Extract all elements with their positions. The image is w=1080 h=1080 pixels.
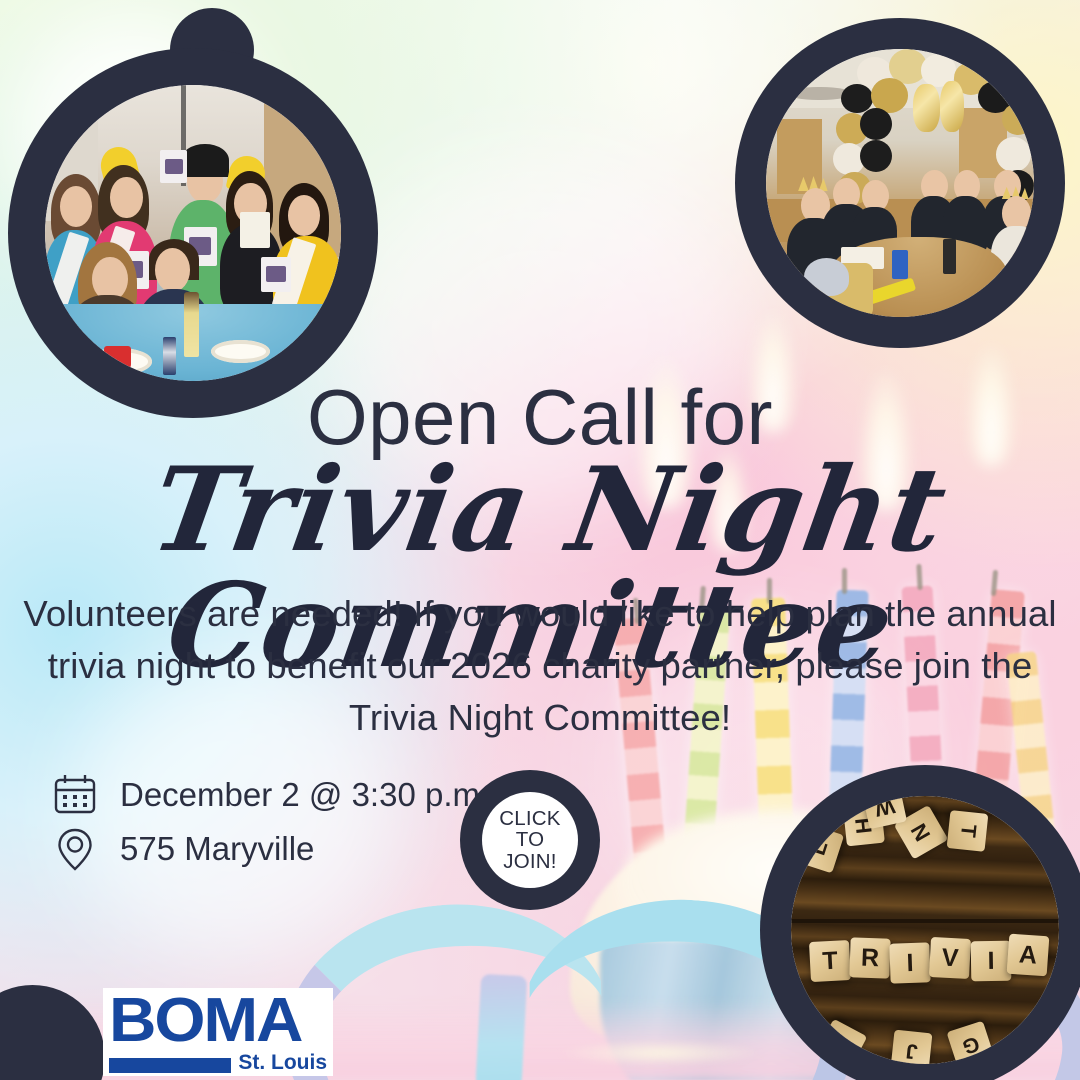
logo-rule	[109, 1058, 231, 1073]
ribbon-decoration	[475, 974, 527, 1080]
letter-tile: I	[889, 943, 931, 985]
letter-tile: L	[794, 823, 845, 874]
logo-rule-row: St. Louis	[109, 1052, 327, 1073]
letter-tile: T	[947, 810, 988, 851]
body-paragraph: Volunteers are needed! If you would like…	[14, 588, 1066, 743]
ribbon-shadow	[560, 1040, 760, 1066]
click-to-join-label[interactable]: CLICK TO JOIN!	[482, 792, 578, 888]
trivia-letter-tiles-photo: L H N W T T R I V I A B J G	[791, 796, 1059, 1064]
event-date-row: December 2 @ 3:30 p.m.	[52, 772, 489, 818]
trivia-team-table-photo-ring	[8, 48, 378, 418]
event-location-row: 575 Maryville	[52, 826, 314, 872]
click-to-join-button[interactable]: CLICK TO JOIN!	[460, 770, 600, 910]
gold-black-balloon-party-photo-ring	[735, 18, 1065, 348]
cta-line-1: CLICK	[499, 808, 560, 829]
letter-tile: T	[809, 940, 851, 982]
promo-poster: L H N W T T R I V I A B J G Open Call fo…	[0, 0, 1080, 1080]
event-date-text: December 2 @ 3:30 p.m.	[120, 776, 489, 814]
letter-tile: G	[947, 1022, 994, 1064]
gold-black-balloon-party-photo	[766, 49, 1034, 317]
event-location-text: 575 Maryville	[120, 830, 314, 868]
letter-tile: I	[970, 940, 1011, 981]
cta-line-3: JOIN!	[503, 851, 556, 872]
letter-tile: R	[849, 937, 891, 979]
cta-line-2: TO	[516, 829, 545, 850]
letter-tile: A	[1007, 934, 1050, 977]
logo-subtitle: St. Louis	[238, 1052, 327, 1073]
boma-st-louis-logo: BOMA St. Louis	[103, 988, 333, 1076]
letter-tile: J	[891, 1030, 932, 1064]
location-pin-icon	[52, 826, 98, 872]
letter-tile: B	[817, 1020, 868, 1064]
trivia-letter-tiles-photo-ring: L H N W T T R I V I A B J G	[760, 765, 1080, 1080]
calendar-icon	[52, 772, 98, 818]
letter-tile: V	[929, 937, 971, 979]
logo-wordmark: BOMA	[109, 992, 340, 1049]
trivia-team-table-photo	[45, 85, 341, 381]
